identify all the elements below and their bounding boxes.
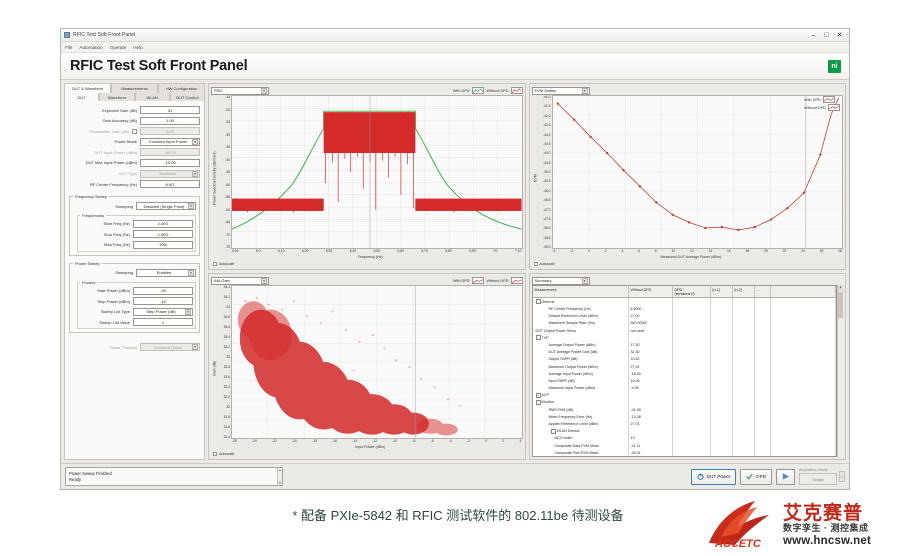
summary-select-value: Summary — [535, 278, 552, 283]
field-label: DUT Type — [119, 171, 137, 176]
cell-measurement: Maximum Output Power (dBm) — [533, 363, 629, 370]
am-gain-canvas[interactable] — [231, 285, 523, 439]
col-n-minus-2: [n-2] — [733, 286, 755, 297]
y-tick: -44.5 — [543, 161, 551, 165]
am-gain-autoscale-toggle[interactable]: Autoscale — [211, 451, 523, 457]
cell-without-dpd: not used — [629, 327, 673, 334]
cell-empty — [733, 406, 755, 413]
cell-empty — [755, 305, 771, 312]
application-body: DUT & Waveform Measurements HW Configura… — [61, 80, 849, 463]
check-icon — [746, 473, 753, 480]
table-row[interactable]: Applied Reference Level (dBm)27.01 — [533, 420, 837, 427]
sweep-list-type-select[interactable]: Step Power (dB) ▾ — [133, 308, 193, 316]
cell-without-dpd: 27.01 — [629, 420, 673, 427]
cell-empty — [711, 313, 733, 320]
table-row[interactable]: -TXP — [533, 334, 837, 341]
y-tick: -35 — [225, 145, 230, 149]
y-tick: -70 — [225, 233, 230, 237]
cell-empty — [755, 392, 771, 399]
cell-empty — [771, 385, 837, 392]
am-gain-plot-wrap: Gain (dB) 34.4 34.2 34 33.8 33.6 33.4 33… — [211, 285, 523, 451]
powers-subgroup: Powers Start Power (dBm) -40 Stop Power … — [77, 280, 196, 330]
cell-label: Maximum Output Power (dBm) — [549, 365, 598, 369]
cell-empty — [673, 363, 711, 370]
y-tick: 32.4 — [224, 385, 230, 389]
cell-empty — [733, 298, 755, 305]
y-tick: 34 — [226, 305, 230, 309]
field-label: Sweep List Value — [99, 320, 130, 325]
cell-without-dpd: -4.95 — [629, 385, 673, 392]
frequency-sweeping-select[interactable]: Disabled (Single Point) ▾ — [136, 202, 196, 210]
cell-empty — [755, 428, 771, 435]
evm-plot-column: -41.0 -41.5 -42.0 -42.5 -43.0 -43.5 -44.… — [539, 95, 844, 261]
expander-icon[interactable]: - — [536, 335, 541, 340]
cell-empty — [771, 377, 837, 384]
cell-without-dpd: -40.31 — [629, 449, 673, 456]
legend-swatch-with-dpd[interactable] — [823, 96, 835, 103]
evm-y-ticks: -41.0 -41.5 -42.0 -42.5 -43.0 -43.5 -44.… — [539, 95, 552, 249]
cell-empty — [755, 406, 771, 413]
cell-empty — [755, 313, 771, 320]
cell-empty — [673, 413, 711, 420]
cell-empty — [771, 370, 837, 377]
power-tracking-select[interactable]: Constant Power ▾ — [140, 343, 200, 351]
y-tick: -41.5 — [543, 104, 551, 108]
chevron-down-icon: ▾ — [261, 88, 267, 94]
cell-empty — [711, 442, 733, 449]
menu-item-help[interactable]: Help — [133, 45, 142, 50]
preamplifier-gain-checkbox[interactable] — [132, 129, 137, 134]
logo-url: www.hncsw.net — [782, 535, 871, 547]
legend-swatch-without-dpd[interactable] — [511, 87, 523, 94]
stop-freq-input[interactable]: 2.50G — [133, 230, 193, 238]
y-tick: -55 — [225, 195, 230, 199]
frequency-sweep-group: Frequency Sweep Sweeping Disabled (Singl… — [69, 194, 200, 256]
bottom-toolbar: Power Sweep Finished Ready ▲ ▼ DUT Power… — [61, 463, 849, 489]
menu-item-file[interactable]: File — [65, 45, 72, 50]
y-tick: -30 — [225, 133, 230, 137]
run-button[interactable] — [776, 469, 795, 485]
cell-empty — [771, 349, 837, 356]
evm-plot-main: -41.0 -41.5 -42.0 -42.5 -43.0 -43.5 -44.… — [539, 95, 844, 249]
cell-empty — [733, 399, 755, 406]
legend-without-dpd: Without DPD — [804, 104, 840, 111]
control-panel: DUT & Waveform Measurements HW Configura… — [64, 83, 205, 460]
tab-hw-configuration[interactable]: HW Configuration — [158, 83, 205, 93]
table-row[interactable]: -General — [533, 298, 837, 305]
y-tick: -48.0 — [543, 226, 551, 230]
am-gain-y-axis-title: Gain (dB) — [211, 285, 218, 451]
cell-empty — [771, 341, 837, 348]
table-row[interactable]: Mean Frequency Error (Hz)-13.38 — [533, 413, 837, 420]
field-label: Start Power (dBm) — [97, 288, 130, 293]
cell-empty — [755, 327, 771, 334]
field-power-sweeping: Sweeping Enabled ▾ — [73, 269, 196, 277]
y-tick: -47.5 — [543, 217, 551, 221]
cell-empty — [771, 406, 837, 413]
cell-empty — [733, 341, 755, 348]
y-tick: 34.4 — [224, 285, 230, 289]
cell-empty — [673, 305, 711, 312]
field-label: Expected Gain (dB) — [102, 108, 137, 113]
cell-empty — [771, 305, 837, 312]
dut-power-button[interactable]: DUT Power — [691, 469, 737, 485]
cell-empty — [673, 420, 711, 427]
tab-dut-control[interactable]: DUT Control — [170, 93, 205, 102]
cell-empty — [711, 341, 733, 348]
col-extra — [771, 286, 837, 297]
spectrum-y-ticks: -15 -20 -25 -30 -35 -40 -45 -50 -55 -60 — [218, 95, 231, 249]
acquisition-mode-label: Acquisition Mode — [799, 468, 837, 472]
y-tick: -60 — [225, 208, 230, 212]
spectrum-svg — [232, 96, 522, 248]
field-label: Power Tracking — [109, 345, 137, 350]
cell-empty — [771, 327, 837, 334]
cell-empty — [711, 298, 733, 305]
field-label: Gain Accuracy (dB) — [103, 118, 137, 123]
cell-empty — [771, 334, 837, 341]
table-row[interactable]: DUT Average Power Gain (dB)32.30 — [533, 349, 837, 356]
cell-empty — [711, 406, 733, 413]
cell-empty — [711, 392, 733, 399]
tab-dut[interactable]: DUT — [64, 93, 99, 102]
chevron-down-icon: ▾ — [192, 344, 198, 350]
legend-swatch-with-dpd[interactable] — [472, 277, 484, 284]
table-row[interactable]: RF Center Frequency (Hz)6.5000 — [533, 305, 837, 312]
y-tick: -45.5 — [543, 179, 551, 183]
chevron-down-icon: ▾ — [185, 309, 191, 315]
frequencies-legend: Frequencies — [80, 213, 106, 218]
cell-measurement: DUT Average Power Gain (dB) — [533, 349, 629, 356]
cell-measurement: RMS EVM (dB) — [533, 406, 629, 413]
table-row[interactable]: Average Input Power (dBm)-15.00 — [533, 370, 837, 377]
dut-power-label: DUT Power — [707, 474, 731, 479]
menu-bar: File Automation Operate Help — [61, 42, 849, 53]
preamplifier-gain-input[interactable]: 0.00 — [140, 127, 200, 135]
cell-without-dpd: -41.09 — [629, 406, 673, 413]
summary-table-header: Measurement Without DPD DPD (iterations … — [533, 286, 837, 298]
field-label: Sweep List Type — [101, 309, 130, 314]
cell-empty — [755, 298, 771, 305]
table-row[interactable]: +ACP — [533, 392, 837, 399]
dpd-label: DPD — [756, 474, 766, 479]
rf-center-frequency-input[interactable]: 6.5G — [140, 180, 200, 188]
cell-empty — [711, 334, 733, 341]
cell-empty — [673, 399, 711, 406]
start-freq-input[interactable]: 2.40G — [133, 220, 193, 228]
cell-empty — [733, 370, 755, 377]
y-tick: -43.0 — [543, 133, 551, 137]
menu-item-operate[interactable]: Operate — [110, 45, 127, 50]
cell-empty — [673, 313, 711, 320]
dut-settings-pane: Expected Gain (dB) 31 Gain Accuracy (dB)… — [64, 101, 205, 460]
field-start-freq: Start Freq (Hz) 2.40G — [80, 220, 193, 228]
cell-empty — [771, 392, 837, 399]
cell-measurement: -WLAN Demod — [533, 428, 629, 435]
chevron-down-icon: ▾ — [261, 278, 267, 284]
table-row[interactable]: MCS Index13 — [533, 435, 837, 442]
cell-measurement: -General — [533, 298, 629, 305]
table-row[interactable]: Composite Pilot EVM Mean-40.31 — [533, 449, 837, 456]
am-gain-svg — [232, 286, 522, 438]
power-sweeping-select[interactable]: Enabled ▾ — [136, 269, 196, 277]
autoscale-label: Autoscale — [219, 452, 234, 456]
table-row[interactable]: Composite Data EVM Mean-41.11 — [533, 442, 837, 449]
table-row[interactable]: Waveform Sample Rate (S/s)640.000M — [533, 320, 837, 327]
cell-empty — [771, 442, 837, 449]
tab-wlan[interactable]: WLAN — [135, 93, 170, 102]
sweep-list-type-value: Step Power (dB) — [137, 309, 185, 314]
legend-without-dpd: Without DPD — [487, 87, 523, 94]
field-dut-input-power: DUT Input Power (dBm) -40.00 — [69, 148, 200, 156]
cell-measurement: -TXP — [533, 334, 629, 341]
cell-empty — [771, 420, 837, 427]
chevron-down-icon[interactable]: ▾ — [839, 471, 845, 482]
y-tick: 33.6 — [224, 325, 230, 329]
legend-swatch-without-dpd[interactable] — [828, 104, 840, 111]
cell-label: Maximum Input Power (dBm) — [549, 386, 596, 390]
cell-measurement: DUT Output Power Servo — [533, 327, 629, 334]
table-row[interactable]: Input PAPR (dB)10.05 — [533, 377, 837, 384]
spectrum-graph-select-value: PSD — [214, 88, 222, 93]
chevron-down-icon: ▾ — [582, 88, 588, 94]
minimize-button[interactable]: – — [807, 29, 820, 41]
maximize-button[interactable]: □ — [820, 29, 833, 41]
cell-empty — [733, 334, 755, 341]
frequency-sweeping-value: Disabled (Single Point) — [140, 204, 188, 209]
table-row[interactable]: RMS EVM (dB)-41.09 — [533, 406, 837, 413]
window-title: RFIC Test Soft Front Panel — [73, 32, 135, 38]
legend-swatch-without-dpd[interactable] — [511, 277, 523, 284]
cell-measurement: Average Output Power (dBm) — [533, 341, 629, 348]
close-button[interactable]: ✕ — [833, 29, 846, 41]
cell-without-dpd: -41.11 — [629, 442, 673, 449]
tab-dut-and-waveform[interactable]: DUT & Waveform — [64, 83, 111, 93]
y-tick: 33.2 — [224, 345, 230, 349]
evm-graph-select-value: EVM Sweep — [535, 88, 557, 93]
dut-input-power-input[interactable]: -40.00 — [140, 148, 200, 156]
table-row[interactable]: Maximum Input Power (dBm)-4.95 — [533, 385, 837, 392]
cell-empty — [755, 341, 771, 348]
cell-empty — [733, 313, 755, 320]
cell-empty — [771, 413, 837, 420]
y-tick: 33.8 — [224, 315, 230, 319]
status-scrollbar[interactable]: ▲ ▼ — [277, 468, 282, 485]
cell-empty — [755, 420, 771, 427]
cell-empty — [755, 449, 771, 456]
y-tick: 31.4 — [224, 435, 230, 439]
step-freq-input[interactable]: 10M — [133, 241, 193, 249]
cell-empty — [733, 363, 755, 370]
cell-measurement: Mean Frequency Error (Hz) — [533, 413, 629, 420]
evm-sweep-panel: EVM Sweep ▾ EVM -41.0 -41.5 -42.0 - — [529, 83, 847, 270]
acquisition-mode-value[interactable]: Single — [799, 473, 837, 485]
am-gain-y-ticks: 34.4 34.2 34 33.8 33.6 33.4 33.2 33 32.8… — [218, 285, 231, 439]
table-row[interactable]: DUT Output Power Servonot used — [533, 327, 837, 334]
application-window: RFIC Test Soft Front Panel – □ ✕ File Au… — [60, 28, 850, 490]
am-gain-plot-column: 34.4 34.2 34 33.8 33.6 33.4 33.2 33 32.8… — [218, 285, 523, 451]
scroll-up-icon[interactable]: ▲ — [838, 285, 843, 291]
cell-measurement: Output PAPR (dB) — [533, 356, 629, 363]
expander-icon[interactable]: - — [551, 429, 556, 434]
acquisition-mode-stack: Acquisition Mode Single — [799, 468, 837, 485]
spectrum-graph-select[interactable]: PSD ▾ — [211, 87, 269, 95]
table-row[interactable]: Output PAPR (dB)10.62 — [533, 356, 837, 363]
cell-empty — [755, 385, 771, 392]
cell-measurement: RF Center Frequency (Hz) — [533, 305, 629, 312]
field-label: DUT Max Input Power (dBm) — [86, 160, 137, 165]
cell-label: Waveform Sample Rate (S/s) — [549, 321, 596, 325]
cell-empty — [673, 377, 711, 384]
table-row[interactable]: Average Output Power (dBm)17.30 — [533, 341, 837, 348]
scroll-up-icon[interactable]: ▲ — [279, 468, 282, 472]
menu-item-automation[interactable]: Automation — [79, 45, 102, 50]
cell-empty — [755, 435, 771, 442]
summary-select[interactable]: Summary ▾ — [532, 277, 590, 285]
cell-empty — [771, 313, 837, 320]
cell-empty — [755, 349, 771, 356]
powers-legend: Powers — [80, 280, 97, 285]
field-gain-accuracy: Gain Accuracy (dB) 1.00 — [69, 117, 200, 125]
field-expected-gain: Expected Gain (dB) 31 — [69, 106, 200, 114]
company-logo: ACCETC 艾克赛普 数字孪生 · 测控集成 www.hncsw.net — [703, 497, 908, 549]
primary-tab-bar: DUT & Waveform Measurements HW Configura… — [64, 83, 205, 93]
y-tick: 32.2 — [224, 395, 230, 399]
field-label: Power Mode — [115, 139, 137, 144]
tab-measurements[interactable]: Measurements — [111, 83, 158, 93]
field-label: Step Freq (Hz) — [104, 242, 130, 247]
evm-autoscale-toggle[interactable]: Autoscale — [532, 261, 844, 267]
cell-measurement: +ACP — [533, 392, 629, 399]
page-title: RFIC Test Soft Front Panel — [70, 58, 247, 74]
chevron-down-icon: ▾ — [188, 270, 194, 276]
cell-measurement: Waveform Sample Rate (S/s) — [533, 320, 629, 327]
col-dpd: DPD (iterations 0) — [673, 286, 711, 297]
chevron-down-icon: ▾ — [192, 139, 198, 145]
col-measurement: Measurement — [533, 286, 629, 297]
cell-empty — [711, 327, 733, 334]
dut-type-select[interactable]: Nonlinear ▾ — [140, 170, 200, 178]
spectrum-autoscale-toggle[interactable]: Autoscale — [211, 261, 523, 267]
cell-empty — [755, 399, 771, 406]
dpd-button[interactable]: DPD — [740, 469, 772, 485]
cell-empty — [711, 385, 733, 392]
stop-power-input[interactable]: -10 — [133, 297, 193, 305]
frequency-sweep-legend: Frequency Sweep — [73, 194, 109, 199]
logo-svg: ACCETC 艾克赛普 数字孪生 · 测控集成 www.hncsw.net — [703, 497, 908, 549]
legend-label: With DPD — [804, 98, 821, 102]
expected-gain-input[interactable]: 31 — [140, 106, 200, 114]
cell-empty — [711, 420, 733, 427]
cell-empty — [733, 413, 755, 420]
cell-measurement: MCS Index — [533, 435, 629, 442]
y-tick: -45 — [225, 170, 230, 174]
y-tick: 31.8 — [224, 415, 230, 419]
legend-swatch-with-dpd[interactable] — [472, 87, 484, 94]
cell-without-dpd: 6.5000 — [629, 305, 673, 312]
evm-y-axis-title: EVM — [532, 95, 539, 261]
evm-legend: With DPD Without DPD — [804, 96, 840, 111]
cell-empty — [733, 327, 755, 334]
sweep-list-value-input[interactable]: 1 — [133, 318, 193, 326]
y-tick: -50 — [225, 183, 230, 187]
y-tick: -48.5 — [543, 236, 551, 240]
cell-empty — [771, 356, 837, 363]
cell-empty — [673, 428, 711, 435]
cell-measurement: Average Input Power (dBm) — [533, 370, 629, 377]
cell-without-dpd: 27.00 — [629, 313, 673, 320]
evm-graph-select[interactable]: EVM Sweep ▾ — [532, 87, 590, 95]
cell-empty — [771, 435, 837, 442]
cell-measurement: Input PAPR (dB) — [533, 377, 629, 384]
cell-measurement: Composite Pilot EVM Mean — [533, 449, 629, 456]
cell-empty — [733, 377, 755, 384]
field-label: RF Center Frequency (Hz) — [90, 182, 137, 187]
cell-empty — [771, 298, 837, 305]
spectrum-canvas[interactable] — [231, 95, 523, 249]
evm-canvas[interactable] — [552, 95, 844, 249]
power-tracking-value: Constant Power — [144, 345, 192, 350]
table-row[interactable]: Default Reference Level (dBm)27.00 — [533, 313, 837, 320]
summary-table-wrap: Measurement Without DPD DPD (iterations … — [532, 285, 844, 457]
frequencies-subgroup: Frequencies Start Freq (Hz) 2.40G Stop F… — [77, 213, 196, 252]
logo-subtitle-cn: 数字孪生 · 测控集成 — [783, 522, 869, 533]
power-sweeping-value: Enabled — [140, 270, 188, 275]
legend-with-dpd: With DPD — [804, 96, 840, 103]
cell-label: Mean Frequency Error (Hz) — [549, 415, 593, 419]
cell-empty — [733, 349, 755, 356]
am-gain-panel-header: AM-Gain ▾ With DPD Without DPD — [211, 276, 523, 285]
y-tick: -44.0 — [543, 151, 551, 155]
power-mode-select[interactable]: Constant Input Power ▾ — [140, 138, 200, 146]
cell-empty — [673, 356, 711, 363]
scroll-down-icon[interactable]: ▼ — [279, 481, 282, 485]
checkbox-icon — [213, 452, 217, 456]
cell-empty — [755, 442, 771, 449]
field-dut-max-input-power: DUT Max Input Power (dBm) -10.00 — [69, 159, 200, 167]
cell-label: DUT Average Power Gain (dB) — [549, 350, 598, 354]
power-sweep-group: Power Sweep Sweeping Enabled ▾ Powers St… — [69, 261, 200, 333]
summary-table-body: -GeneralRF Center Frequency (Hz)6.5000De… — [533, 298, 837, 456]
am-gain-graph-select[interactable]: AM-Gain ▾ — [211, 277, 269, 285]
cell-label: WLAN Demod — [557, 429, 580, 433]
table-row[interactable]: -WLAN Demod — [533, 428, 837, 435]
legend-with-dpd: With DPD — [453, 277, 484, 284]
field-frequency-sweeping: Sweeping Disabled (Single Point) ▾ — [73, 202, 196, 210]
cell-empty — [733, 385, 755, 392]
scroll-thumb[interactable] — [838, 292, 843, 318]
table-row[interactable]: Maximum Output Power (dBm)27.92 — [533, 363, 837, 370]
cell-empty — [673, 370, 711, 377]
spectrum-panel: PSD ▾ With DPD Without DPD — [208, 83, 526, 270]
expander-icon[interactable]: - — [536, 299, 541, 304]
table-row[interactable]: -ModAcc — [533, 399, 837, 406]
cell-empty — [771, 428, 837, 435]
cell-label: Applied Reference Level (dBm) — [549, 422, 599, 426]
field-label: Stop Power (dBm) — [97, 299, 130, 304]
cell-empty — [733, 392, 755, 399]
expander-icon[interactable]: - — [536, 400, 541, 405]
summary-scrollbar[interactable]: ▲ — [837, 285, 843, 457]
y-tick: -47.0 — [543, 208, 551, 212]
gain-accuracy-input[interactable]: 1.00 — [140, 117, 200, 125]
dut-max-input-power-input[interactable]: -10.00 — [140, 159, 200, 167]
tab-waveform[interactable]: Waveform — [99, 93, 134, 102]
app-icon — [64, 32, 70, 38]
cell-label: Default Reference Level (dBm) — [549, 314, 598, 318]
start-power-input[interactable]: -40 — [133, 287, 193, 295]
expander-icon[interactable]: + — [536, 393, 541, 398]
